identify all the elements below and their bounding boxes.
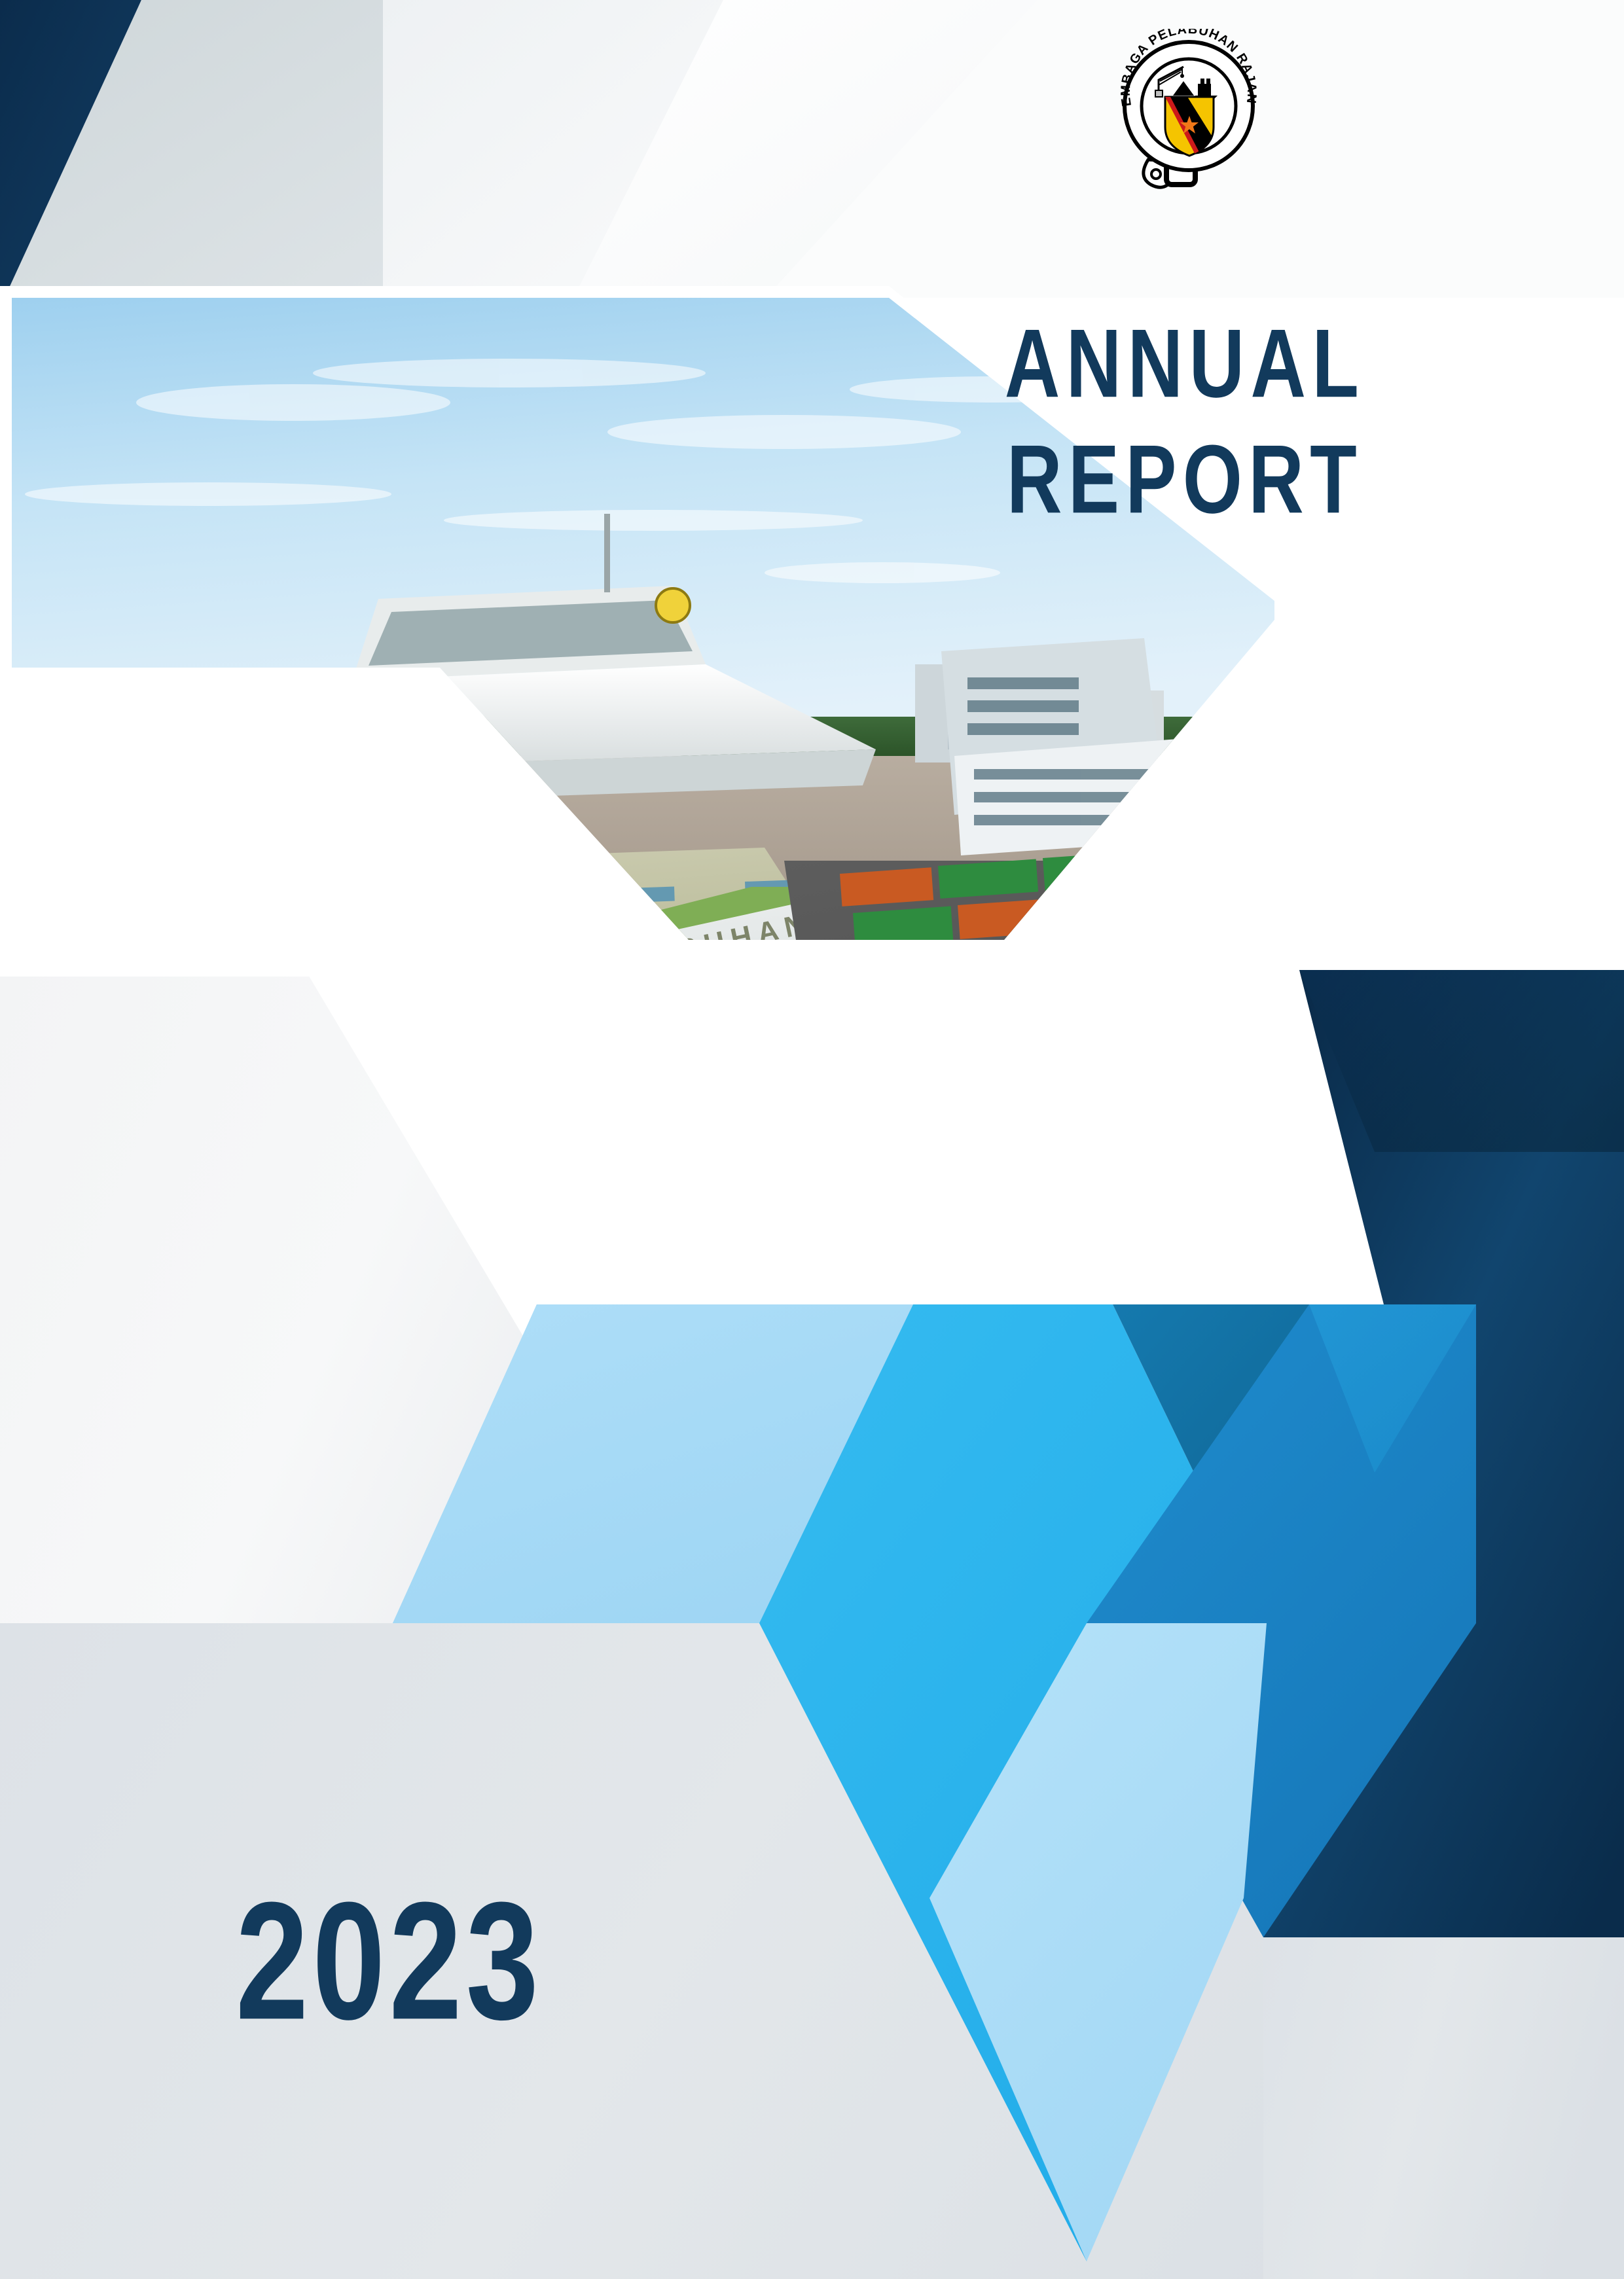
page-title: ANNUAL REPORT	[890, 314, 1479, 514]
title-line-annual: ANNUAL	[911, 314, 1459, 414]
photo-mast	[604, 514, 610, 592]
white-separator-left	[0, 941, 314, 977]
facet-gray-right-lower	[1263, 1937, 1624, 2279]
photo-emblem	[656, 588, 690, 622]
title-line-report: REPORT	[911, 430, 1459, 529]
organization-logo: LEMBAGA PELABUHAN RAJANG	[1110, 29, 1267, 192]
report-year: 2023	[236, 1865, 543, 2058]
annual-report-cover-page: LEMBAGA PELABUHAN RAJANG	[0, 0, 1624, 2279]
